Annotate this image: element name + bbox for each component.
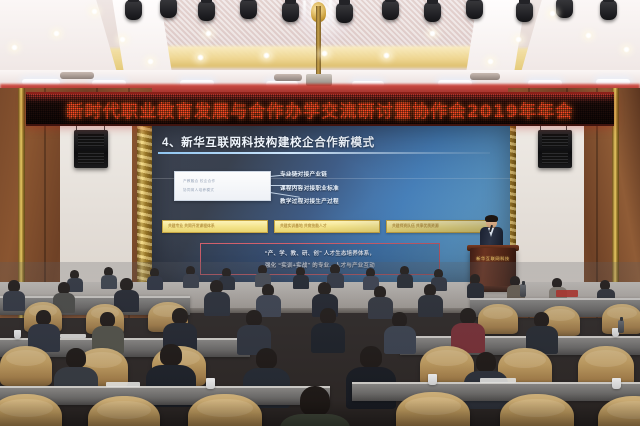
ceiling-downlight [584,32,593,39]
stage-spotlight [382,0,399,20]
ceiling [0,0,640,92]
ceiling-downlight [382,52,391,59]
bottom-shadow-overlay [0,400,640,426]
ceiling-vent [274,74,302,81]
screen-vignette [152,126,510,284]
ceiling-downlight [262,52,271,59]
ceiling-downlight [52,30,61,37]
stage-spotlight [336,3,353,23]
stage-spotlight [240,0,257,19]
led-banner-display: 新时代职业教育发展与合作办学交流研讨暨协作会2019年年会 [26,92,614,126]
stage-spotlight [160,0,177,18]
projector-mount-pole [316,6,321,78]
wall-mounted-speaker-right [538,130,572,168]
stage-spotlight [282,2,299,22]
ceiling-downlight [622,46,631,53]
ceiling-downlight [486,58,495,65]
ceiling-downlight [548,10,557,17]
ceiling-downlight [204,30,213,37]
ceiling-downlight [90,8,99,15]
ceiling-downlight [118,36,127,43]
stage-spotlight [198,1,215,21]
stage-spotlight [424,2,441,22]
ceiling-downlight [196,54,205,61]
banner-title-text: 新时代职业教育发展与合作办学交流研讨暨协作会2019年年会 [26,94,614,124]
ceiling-vent [470,73,500,80]
ceiling-downlight [514,36,523,43]
ceiling-downlight [428,30,437,37]
ceiling-downlight [10,44,19,51]
stage-spotlight [516,2,533,22]
projection-screen: 4、新华互联网科技构建校企合作新模式 产教融合 校企合作 协同育人培养模式 专业… [152,126,510,284]
stage-spotlight [466,0,483,19]
ceiling-downlight [320,50,329,57]
conference-hall-photo: 新时代职业教育发展与合作办学交流研讨暨协作会2019年年会 4、新华互联网科技构… [0,0,640,426]
stage-spotlight [600,0,617,20]
wall-mounted-speaker-left [74,130,108,168]
ceiling-downlight [146,58,155,65]
stage-spotlight [125,0,142,20]
presenter-hair [485,215,498,222]
ceiling-vent [60,72,94,79]
stage-spotlight [556,0,573,18]
gold-pillar-left [137,108,153,286]
